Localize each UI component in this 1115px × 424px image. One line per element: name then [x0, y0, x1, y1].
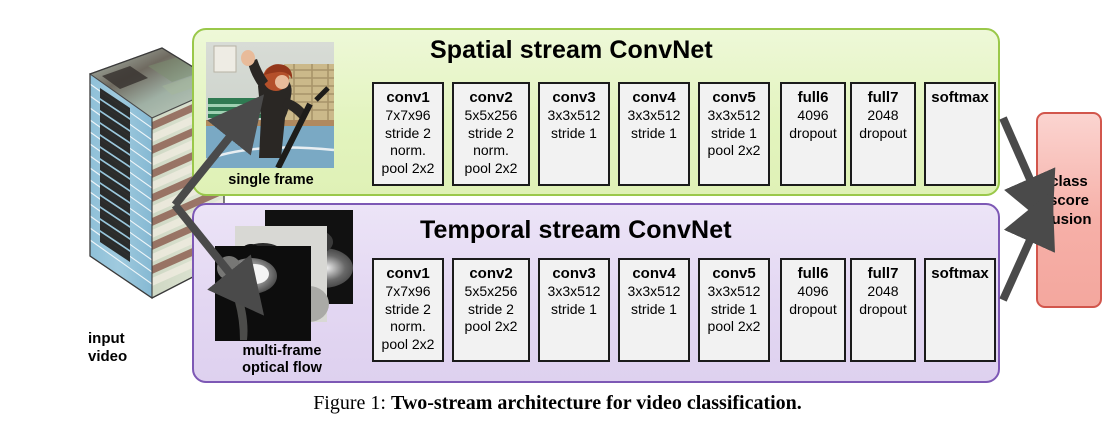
layer-detail: stride 2 [385, 301, 431, 319]
layer-name: conv4 [632, 89, 675, 107]
layer-detail: 4096 [797, 107, 828, 125]
layer-detail: pool 2x2 [382, 336, 435, 354]
layer-detail: norm. [390, 318, 426, 336]
class-score-fusion-label: class score fusion [1036, 172, 1102, 230]
fusion-line-2: score [1036, 191, 1102, 210]
fusion-line-3: fusion [1036, 210, 1102, 229]
layer-detail: 3x3x512 [548, 107, 601, 125]
layer-name: full6 [798, 89, 829, 107]
figure-caption-prefix: Figure 1: [313, 392, 386, 414]
layer-detail: stride 1 [551, 125, 597, 143]
layer-detail: norm. [390, 142, 426, 160]
layer-detail: pool 2x2 [708, 318, 761, 336]
layer-name: conv5 [712, 89, 755, 107]
layer-box-temporal-full7: full72048dropout [850, 258, 916, 362]
layer-name: full7 [868, 265, 899, 283]
optical-flow-label: multi-frame optical flow [196, 343, 368, 377]
layer-name: full7 [868, 89, 899, 107]
temporal-stream-title: Temporal stream ConvNet [420, 216, 732, 245]
layer-detail: pool 2x2 [708, 142, 761, 160]
layer-detail: stride 1 [631, 301, 677, 319]
layer-detail: 3x3x512 [628, 283, 681, 301]
spatial-stream-title: Spatial stream ConvNet [430, 36, 713, 65]
layer-box-spatial-full7: full72048dropout [850, 82, 916, 186]
layer-name: conv3 [552, 89, 595, 107]
layer-detail: norm. [473, 142, 509, 160]
layer-name: softmax [931, 89, 989, 107]
layer-box-temporal-conv1: conv17x7x96stride 2norm.pool 2x2 [372, 258, 444, 362]
layer-name: conv3 [552, 265, 595, 283]
fusion-line-1: class [1036, 172, 1102, 191]
layer-box-spatial-conv2: conv25x5x256stride 2norm.pool 2x2 [452, 82, 530, 186]
layer-name: conv2 [469, 89, 512, 107]
layer-box-spatial-conv4: conv43x3x512stride 1 [618, 82, 690, 186]
layer-name: conv4 [632, 265, 675, 283]
layer-box-spatial-conv1: conv17x7x96stride 2norm.pool 2x2 [372, 82, 444, 186]
layer-box-temporal-softmax: softmax [924, 258, 996, 362]
layer-detail: stride 1 [711, 125, 757, 143]
layer-detail: stride 2 [385, 125, 431, 143]
optical-flow-thumbnail [213, 208, 353, 341]
layer-detail: 5x5x256 [465, 107, 518, 125]
layer-detail: stride 2 [468, 301, 514, 319]
layer-box-spatial-full6: full64096dropout [780, 82, 846, 186]
layer-detail: stride 1 [711, 301, 757, 319]
layer-detail: 3x3x512 [708, 107, 761, 125]
layer-box-temporal-full6: full64096dropout [780, 258, 846, 362]
optical-flow-label-line2: optical flow [196, 360, 368, 377]
layer-box-temporal-conv4: conv43x3x512stride 1 [618, 258, 690, 362]
input-video-label-line1: input [88, 330, 208, 348]
layer-name: conv5 [712, 265, 755, 283]
layer-box-temporal-conv3: conv33x3x512stride 1 [538, 258, 610, 362]
layer-name: conv2 [469, 265, 512, 283]
layer-detail: 4096 [797, 283, 828, 301]
layer-name: full6 [798, 265, 829, 283]
layer-detail: dropout [789, 125, 836, 143]
layer-detail: 3x3x512 [708, 283, 761, 301]
layer-box-spatial-conv5: conv53x3x512stride 1pool 2x2 [698, 82, 770, 186]
layer-detail: pool 2x2 [465, 318, 518, 336]
layer-box-temporal-conv2: conv25x5x256stride 2pool 2x2 [452, 258, 530, 362]
layer-name: softmax [931, 265, 989, 283]
input-video-label: input video [88, 330, 208, 367]
figure-caption: Figure 1: Two-stream architecture for vi… [0, 392, 1115, 415]
input-video-label-line2: video [88, 348, 208, 366]
layer-box-spatial-conv3: conv33x3x512stride 1 [538, 82, 610, 186]
layer-detail: 2048 [867, 283, 898, 301]
layer-detail: 7x7x96 [385, 283, 430, 301]
layer-detail: 3x3x512 [628, 107, 681, 125]
layer-detail: 5x5x256 [465, 283, 518, 301]
layer-name: conv1 [386, 265, 429, 283]
layer-box-temporal-conv5: conv53x3x512stride 1pool 2x2 [698, 258, 770, 362]
layer-detail: 7x7x96 [385, 107, 430, 125]
single-frame-thumbnail [206, 42, 334, 168]
layer-detail: 2048 [867, 107, 898, 125]
single-frame-label: single frame [206, 172, 336, 189]
optical-flow-label-line1: multi-frame [196, 343, 368, 360]
converging-arrow-icon [1003, 118, 1040, 300]
layer-detail: pool 2x2 [382, 160, 435, 178]
layer-detail: stride 2 [468, 125, 514, 143]
layer-detail: dropout [789, 301, 836, 319]
layer-detail: stride 1 [631, 125, 677, 143]
layer-detail: pool 2x2 [465, 160, 518, 178]
layer-detail: stride 1 [551, 301, 597, 319]
layer-detail: 3x3x512 [548, 283, 601, 301]
figure-caption-title: Two-stream architecture for video classi… [391, 392, 802, 414]
layer-box-spatial-softmax: softmax [924, 82, 996, 186]
layer-name: conv1 [386, 89, 429, 107]
layer-detail: dropout [859, 301, 906, 319]
layer-detail: dropout [859, 125, 906, 143]
